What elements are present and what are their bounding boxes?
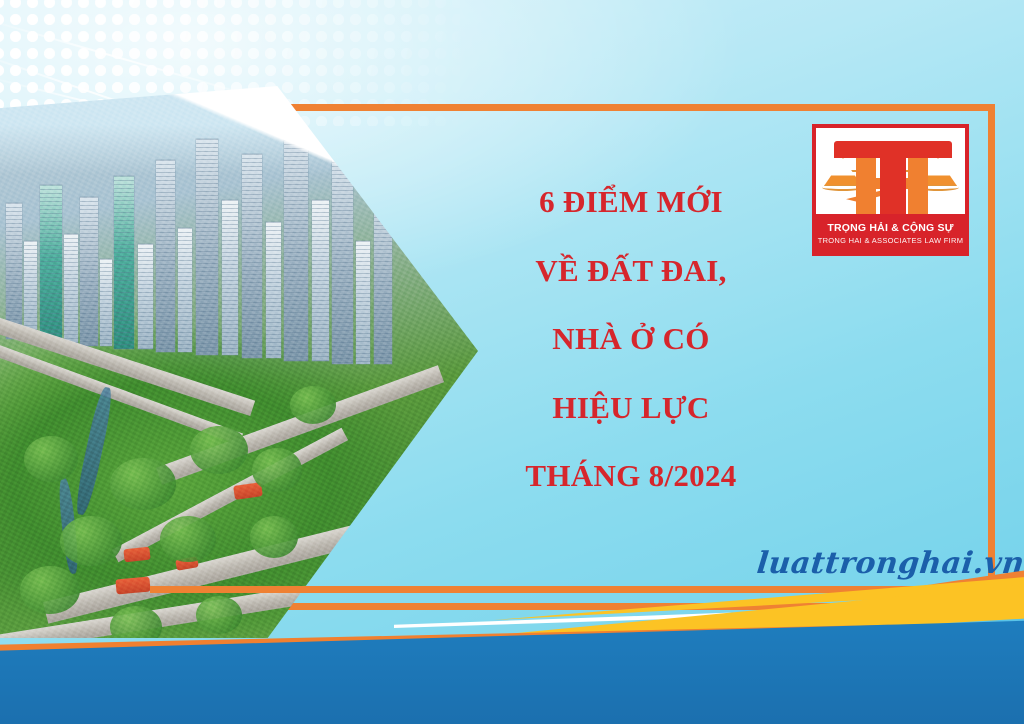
logo-name-band: TRỌNG HẢI & CỘNG SỰ TRONG HAI & ASSOCIAT… <box>816 214 965 252</box>
headline-line-4: HIỆU LỰC <box>466 392 796 425</box>
headline-line-2: VỀ ĐẤT ĐAI, <box>466 255 796 288</box>
page-title: 6 ĐIỂM MỚI VỀ ĐẤT ĐAI, NHÀ Ở CÓ HIỆU LỰC… <box>466 186 796 493</box>
bottom-wave-decoration <box>0 574 1024 724</box>
wave-blue-main <box>0 608 1024 724</box>
logo-name-en: TRONG HAI & ASSOCIATES LAW FIRM <box>816 236 965 245</box>
headline-line-5: THÁNG 8/2024 <box>466 460 796 493</box>
logo-name-vi: TRỌNG HẢI & CỘNG SỰ <box>816 222 965 234</box>
logo-letter-t-stem <box>880 152 906 214</box>
headline-line-3: NHÀ Ở CÓ <box>466 323 796 356</box>
headline-line-1: 6 ĐIỂM MỚI <box>466 186 796 219</box>
logo-mark-icon <box>816 128 965 220</box>
law-firm-logo: TRỌNG HẢI & CỘNG SỰ TRONG HAI & ASSOCIAT… <box>812 124 969 256</box>
banner-canvas: 6 ĐIỂM MỚI VỀ ĐẤT ĐAI, NHÀ Ở CÓ HIỆU LỰC… <box>0 0 1024 724</box>
